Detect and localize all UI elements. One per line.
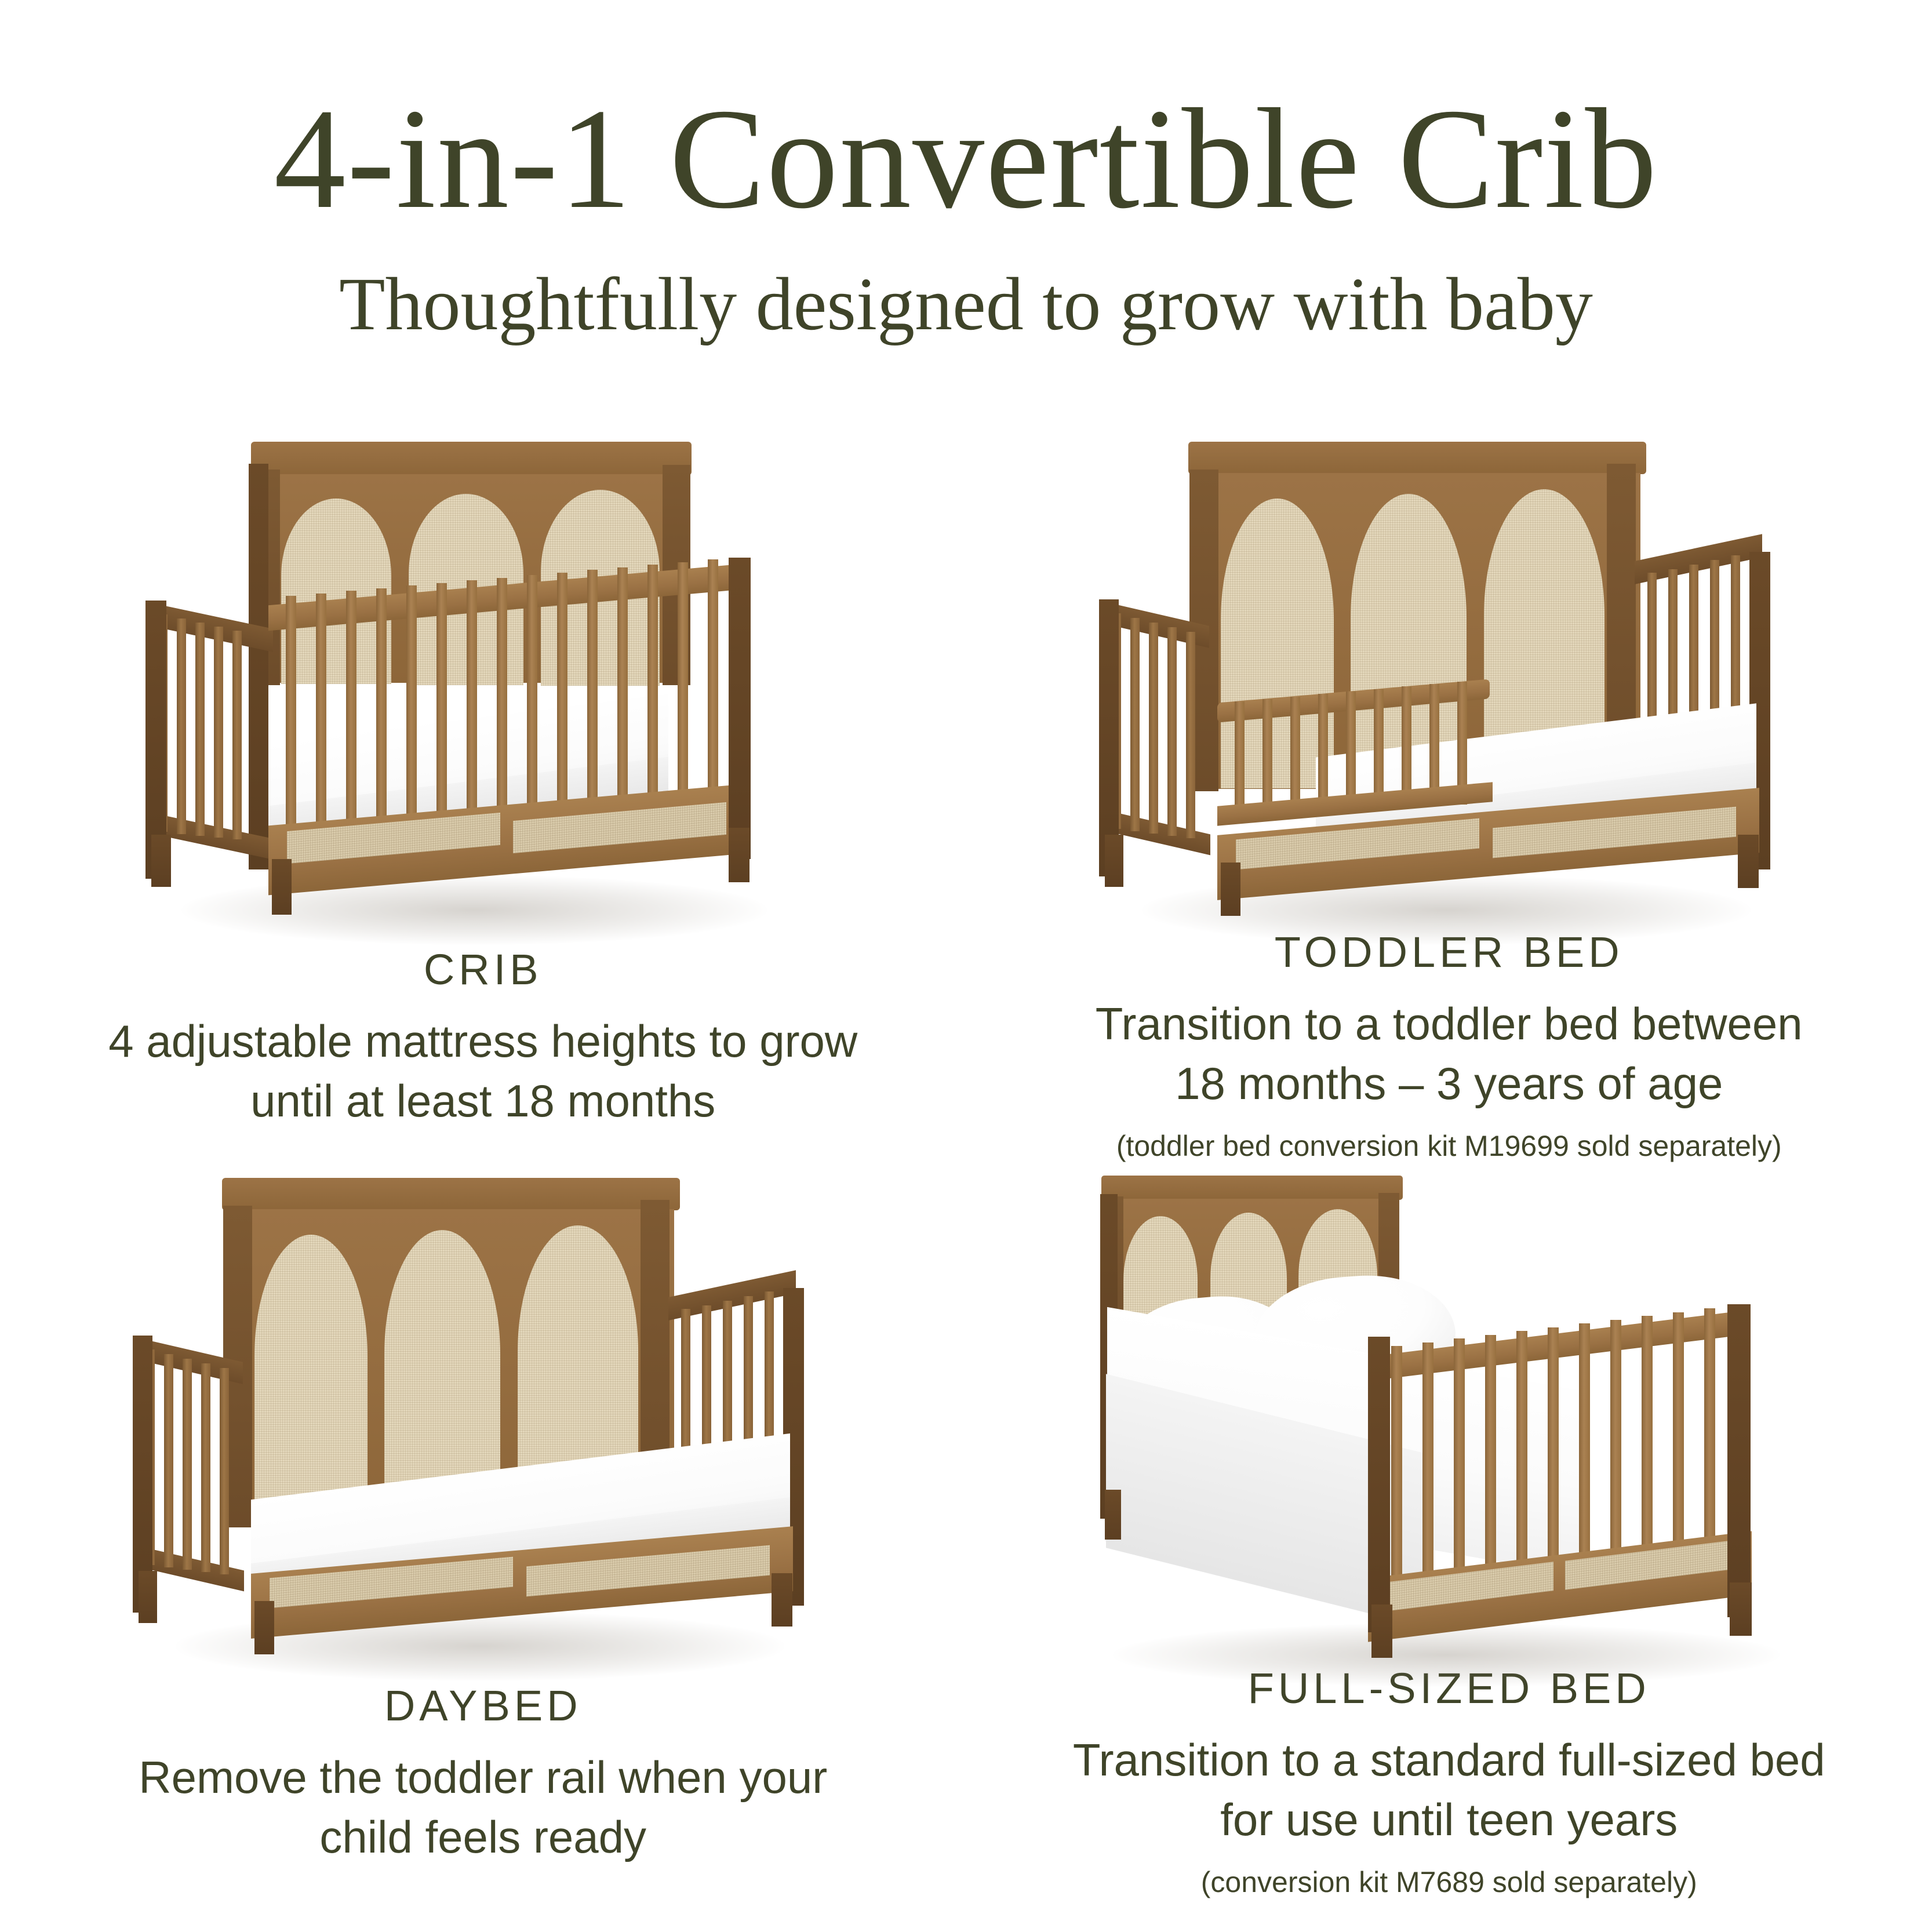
toddler-guard-slat: [1290, 697, 1300, 813]
full-footboard-slat: [1422, 1342, 1433, 1600]
crib-front-slat: [316, 594, 326, 844]
toddler-guard-slat: [1235, 701, 1245, 815]
crib-front-right-post: [729, 558, 751, 859]
crib-leg: [729, 828, 749, 882]
toddler-left-slat: [1167, 627, 1177, 836]
daybed-illustration: [77, 1165, 889, 1681]
crib-front-slat: [647, 565, 658, 828]
full-bed-leg: [1371, 1604, 1392, 1658]
full-sized-bed-caption: FULL-SIZED BED Transition to a standard …: [1072, 1664, 1826, 1901]
crib-headboard-frame: [251, 442, 692, 475]
toddler-left-slat: [1186, 632, 1195, 838]
toddler-bed-illustration: [1043, 429, 1855, 927]
crib-label: CRIB: [106, 945, 860, 1012]
full-footboard-slat: [1516, 1331, 1527, 1595]
daybed-caption: DAYBED Remove the toddler rail when your…: [106, 1681, 860, 1867]
toddler-guard-slat: [1374, 689, 1384, 809]
full-bed-leg: [1730, 1582, 1752, 1636]
crib-front-slat: [286, 596, 296, 845]
crib-front-slat: [346, 591, 356, 842]
full-sized-bed-description: Transition to a standard full-sized bed …: [1072, 1730, 1826, 1850]
daybed-left-slat: [183, 1359, 192, 1570]
toddler-guard-slat: [1346, 692, 1356, 810]
toddler-left-slat: [1149, 623, 1158, 834]
full-footboard-slat: [1454, 1338, 1465, 1598]
crib-front-slat: [617, 567, 628, 829]
cane-arch-panel: [254, 1235, 368, 1525]
crib-left-slat: [195, 623, 205, 836]
crib-front-slat: [376, 588, 387, 841]
full-footboard-slat: [1485, 1335, 1496, 1597]
crib-leg: [272, 859, 292, 915]
full-footboard-slat: [1548, 1327, 1559, 1594]
crib-leg: [151, 835, 171, 887]
configuration-cell-crib: CRIB 4 adjustable mattress heights to gr…: [0, 429, 966, 1165]
toddler-bed-description: Transition to a toddler bed between 18 m…: [1072, 994, 1826, 1114]
crib-front-slat: [557, 573, 567, 832]
cane-arch-panel: [281, 499, 391, 684]
daybed-description: Remove the toddler rail when your child …: [106, 1748, 860, 1867]
page-header: 4-in-1 Convertible Crib Thoughtfully des…: [0, 0, 1932, 342]
toddler-guard-slat: [1262, 699, 1272, 814]
configuration-cell-full-sized-bed: FULL-SIZED BED Transition to a standard …: [966, 1165, 1932, 1901]
crib-front-slat: [497, 578, 507, 835]
crib-illustration: [77, 429, 889, 945]
crib-front-slat: [527, 575, 537, 834]
crib-description: 4 adjustable mattress heights to grow un…: [106, 1012, 860, 1131]
full-footboard-left-post: [1368, 1337, 1390, 1632]
toddler-leg: [1105, 835, 1123, 887]
daybed-left-slat: [201, 1363, 210, 1572]
floor-shadow: [1113, 1623, 1780, 1687]
daybed-leg: [772, 1573, 792, 1627]
crib-left-slat: [214, 627, 223, 838]
toddler-bed-caption: TODDLER BED Transition to a toddler bed …: [1072, 927, 1826, 1165]
full-footboard-slat: [1391, 1346, 1402, 1601]
toddler-headboard-frame: [1188, 442, 1646, 474]
daybed-left-slat: [220, 1368, 229, 1574]
daybed-label: DAYBED: [106, 1681, 860, 1748]
configuration-cell-toddler-bed: TODDLER BED Transition to a toddler bed …: [966, 429, 1932, 1165]
toddler-bed-note: (toddler bed conversion kit M19699 sold …: [1072, 1114, 1826, 1165]
configuration-cell-daybed: DAYBED Remove the toddler rail when your…: [0, 1165, 966, 1901]
toddler-leg: [1738, 835, 1759, 888]
crib-front-slat: [436, 583, 447, 838]
crib-front-slat: [678, 562, 688, 827]
daybed-leg: [254, 1601, 274, 1654]
page-title: 4-in-1 Convertible Crib: [0, 87, 1932, 231]
toddler-leg: [1221, 863, 1240, 916]
crib-caption: CRIB 4 adjustable mattress heights to gr…: [106, 945, 860, 1131]
configuration-grid: CRIB 4 adjustable mattress heights to gr…: [0, 429, 1932, 1901]
crib-left-slat: [232, 631, 242, 839]
daybed-headboard-frame: [222, 1178, 680, 1210]
crib-front-slat: [708, 559, 718, 825]
toddler-left-slat: [1130, 618, 1140, 831]
crib-front-slat: [467, 580, 477, 836]
full-sized-bed-note: (conversion kit M7689 sold separately): [1072, 1850, 1826, 1901]
crib-front-slat: [406, 585, 417, 839]
page-subtitle: Thoughtfully designed to grow with baby: [0, 231, 1932, 342]
full-bed-leg: [1105, 1490, 1121, 1540]
full-sized-bed-illustration: [1043, 1165, 1855, 1664]
crib-left-slat: [177, 618, 186, 834]
crib-front-slat: [587, 570, 598, 831]
crib-rear-left-post: [249, 464, 268, 869]
toddler-guard-slat: [1318, 694, 1328, 811]
daybed-leg: [139, 1571, 157, 1623]
full-footboard-right-post: [1727, 1304, 1751, 1617]
full-headboard-frame: [1101, 1176, 1403, 1200]
daybed-left-slat: [164, 1354, 173, 1567]
